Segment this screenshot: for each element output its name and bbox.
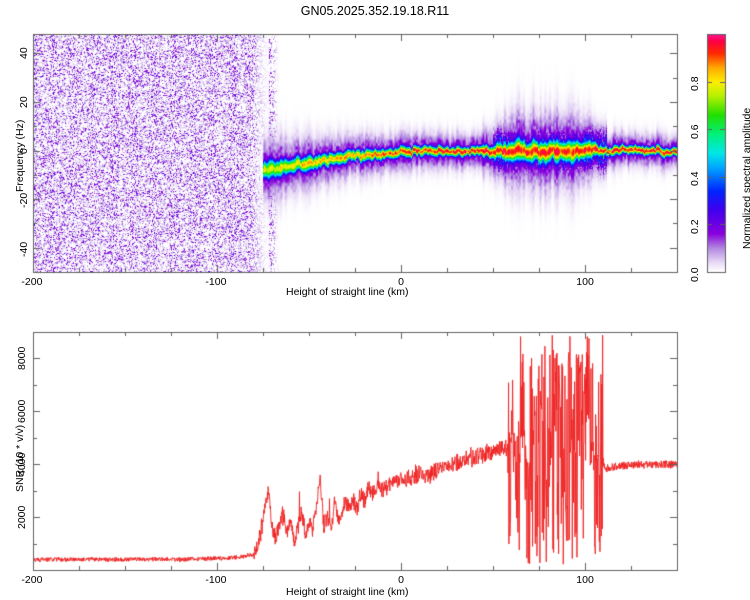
bottom-ytick-label: 4000 [16,453,28,476]
bottom-xtick-label: 0 [398,574,404,586]
top-ytick-label: -20 [18,193,30,208]
page-title: GN05.2025.352.19.18.R11 [0,4,750,18]
colorbar-tick-label: 0.0 [689,267,701,282]
bottom-xtick-label: -200 [21,574,42,586]
top-ytick-label: 0 [18,148,30,154]
top-ytick-label: 20 [18,96,30,108]
top-xtick-label: -100 [205,276,226,288]
bottom-ytick-label: 8000 [16,347,28,370]
top-ytick-label: 40 [18,48,30,60]
bottom-xtick-label: -100 [205,574,226,586]
figure-root: GN05.2025.352.19.18.R11 Height of straig… [0,0,750,600]
colorbar-tick-label: 0.8 [689,77,701,92]
bottom-xaxis-label: Height of straight line (km) [286,586,409,598]
plot-canvas [0,0,750,600]
bottom-xtick-label: 100 [576,574,594,586]
bottom-ytick-label: 2000 [16,506,28,529]
top-xaxis-label: Height of straight line (km) [286,286,409,298]
top-xtick-label: 100 [576,276,594,288]
top-ytick-label: -40 [18,242,30,257]
top-xtick-label: 0 [398,276,404,288]
colorbar-tick-label: 0.6 [689,124,701,139]
top-xtick-label: -200 [21,276,42,288]
colorbar-tick-label: 0.2 [689,219,701,234]
colorbar-tick-label: 0.4 [689,172,701,187]
top-yaxis-label: Frequency (Hz) [14,120,26,192]
colorbar-label: Normalized spectral amplitude [741,108,750,249]
bottom-ytick-label: 6000 [16,400,28,423]
